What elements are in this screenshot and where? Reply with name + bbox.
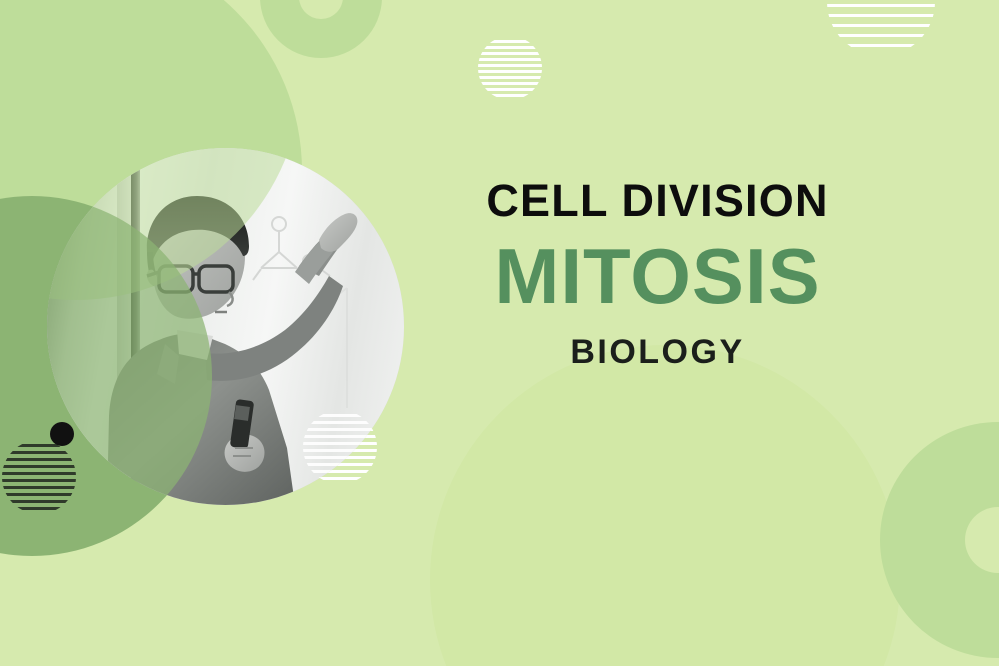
- teacher-photo-circle: [47, 148, 404, 505]
- title-block: CELL DIVISION MITOSIS BIOLOGY: [470, 178, 845, 369]
- title-line-cell-division: CELL DIVISION: [470, 178, 845, 223]
- striped-circle-top: [478, 36, 542, 100]
- striped-half-circle-top-right: [827, 0, 935, 56]
- pale-circle-bottom: [430, 345, 900, 666]
- title-line-mitosis: MITOSIS: [470, 237, 845, 315]
- title-line-biology: BIOLOGY: [470, 335, 845, 369]
- poster-canvas: CELL DIVISION MITOSIS BIOLOGY: [0, 0, 999, 666]
- photo-content: [47, 148, 404, 505]
- ring-top-center: [260, 0, 382, 58]
- striped-circle-overlay-in-photo: [303, 410, 377, 484]
- ring-bottom-right: [880, 422, 999, 658]
